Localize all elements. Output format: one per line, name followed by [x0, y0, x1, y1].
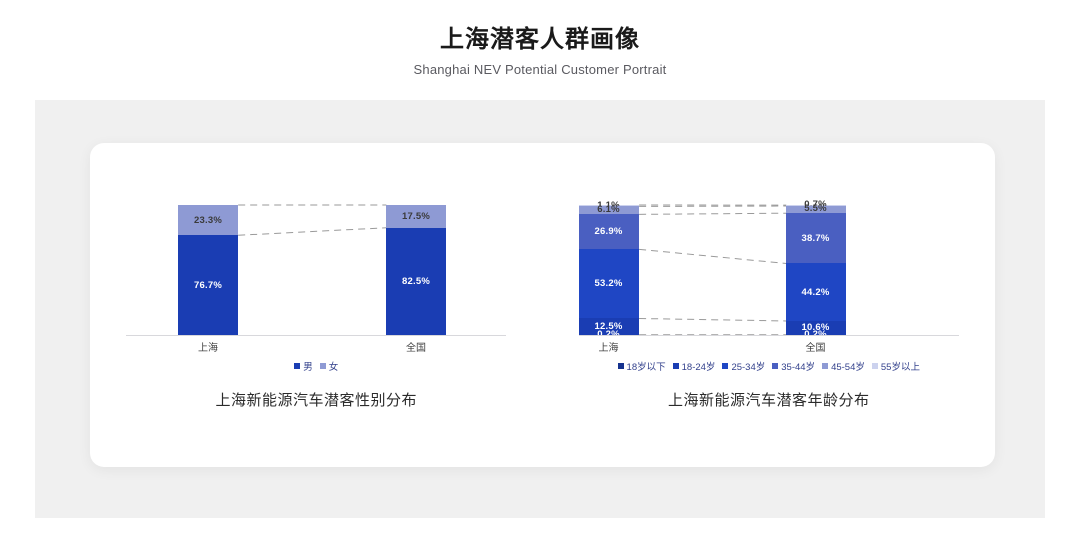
age-legend-item[interactable]: 18-24岁: [673, 359, 716, 373]
gender-axis-line: [126, 335, 506, 336]
age-segment[interactable]: 26.9%: [579, 214, 639, 249]
age-segment-value: 44.2%: [802, 287, 830, 298]
age-segment[interactable]: 6.1%: [579, 206, 639, 214]
age-bar-shanghai[interactable]: 1.1%6.1%26.9%53.2%12.5%0.2%: [579, 205, 639, 335]
age-chart-caption: 上海新能源汽车潜客年龄分布: [543, 389, 996, 410]
legend-swatch-icon: [722, 363, 728, 369]
gender-legend-item[interactable]: 女: [320, 359, 339, 373]
gender-plot-area: 23.3%76.7% 17.5%82.5%: [90, 143, 543, 343]
age-segment-value: 38.7%: [802, 233, 830, 244]
age-legend-item[interactable]: 35-44岁: [772, 359, 815, 373]
gender-segment-value: 82.5%: [402, 276, 430, 287]
age-segment-value: 53.2%: [595, 278, 623, 289]
age-segment[interactable]: 38.7%: [786, 213, 846, 263]
legend-swatch-icon: [822, 363, 828, 369]
legend-swatch-icon: [772, 363, 778, 369]
age-legend-label: 45-54岁: [831, 359, 865, 373]
age-segment[interactable]: 44.2%: [786, 263, 846, 320]
gender-bar-national[interactable]: 17.5%82.5%: [386, 205, 446, 335]
age-legend-label: 25-34岁: [731, 359, 765, 373]
gender-connector-line: [238, 228, 386, 236]
age-legend-label: 35-44岁: [781, 359, 815, 373]
gender-cat-shanghai: 上海: [158, 339, 258, 354]
gender-segment-value: 23.3%: [194, 215, 222, 226]
age-legend-label: 18岁以下: [627, 359, 666, 373]
age-connector-line: [639, 318, 786, 320]
age-legend: 18岁以下18-24岁25-34岁35-44岁45-54岁55岁以上: [543, 359, 996, 373]
gender-bar-shanghai[interactable]: 23.3%76.7%: [178, 205, 238, 335]
gender-legend-item[interactable]: 男: [294, 359, 313, 373]
age-segment[interactable]: 53.2%: [579, 249, 639, 318]
page-title: 上海潜客人群画像: [0, 24, 1080, 56]
age-legend-item[interactable]: 45-54岁: [822, 359, 865, 373]
age-legend-item[interactable]: 18岁以下: [618, 359, 666, 373]
age-segment-value: 26.9%: [595, 226, 623, 237]
gender-category-labels: 上海 全国: [90, 339, 543, 359]
gender-segment-value: 17.5%: [402, 211, 430, 222]
age-legend-item[interactable]: 25-34岁: [722, 359, 765, 373]
age-cat-national: 全国: [766, 339, 866, 354]
age-axis-line: [579, 335, 959, 336]
age-connector-line: [639, 213, 786, 214]
page-header: 上海潜客人群画像 Shanghai NEV Potential Customer…: [0, 0, 1080, 81]
age-cat-shanghai: 上海: [559, 339, 659, 354]
gender-segment[interactable]: 17.5%: [386, 205, 446, 228]
age-category-labels: 上海 全国: [543, 339, 996, 359]
legend-swatch-icon: [618, 363, 624, 369]
gender-segment[interactable]: 76.7%: [178, 235, 238, 335]
gender-cat-national: 全国: [366, 339, 466, 354]
gender-legend-label: 女: [329, 359, 339, 373]
age-bar-national[interactable]: 0.7%5.5%38.7%44.2%10.6%0.2%: [786, 205, 846, 335]
age-legend-label: 18-24岁: [682, 359, 716, 373]
legend-swatch-icon: [294, 363, 300, 369]
age-legend-label: 55岁以上: [881, 359, 920, 373]
age-connector-line: [639, 249, 786, 263]
chart-gender: 23.3%76.7% 17.5%82.5% 上海 全国 男女 上海新能源汽车潜客…: [90, 143, 543, 467]
age-segment[interactable]: 5.5%: [786, 206, 846, 213]
gender-segment[interactable]: 23.3%: [178, 205, 238, 235]
age-legend-item[interactable]: 55岁以上: [872, 359, 920, 373]
gender-connector-lines: [90, 143, 543, 343]
gender-segment[interactable]: 82.5%: [386, 228, 446, 335]
gender-legend-label: 男: [303, 359, 313, 373]
gender-segment-value: 76.7%: [194, 280, 222, 291]
age-plot-area: 1.1%6.1%26.9%53.2%12.5%0.2% 0.7%5.5%38.7…: [543, 143, 996, 343]
chart-age: 1.1%6.1%26.9%53.2%12.5%0.2% 0.7%5.5%38.7…: [543, 143, 996, 467]
gender-legend: 男女: [90, 359, 543, 373]
charts-container: 23.3%76.7% 17.5%82.5% 上海 全国 男女 上海新能源汽车潜客…: [90, 143, 995, 467]
gender-chart-caption: 上海新能源汽车潜客性别分布: [90, 389, 543, 410]
legend-swatch-icon: [872, 363, 878, 369]
legend-swatch-icon: [673, 363, 679, 369]
legend-swatch-icon: [320, 363, 326, 369]
page-subtitle: Shanghai NEV Potential Customer Portrait: [0, 59, 1080, 81]
